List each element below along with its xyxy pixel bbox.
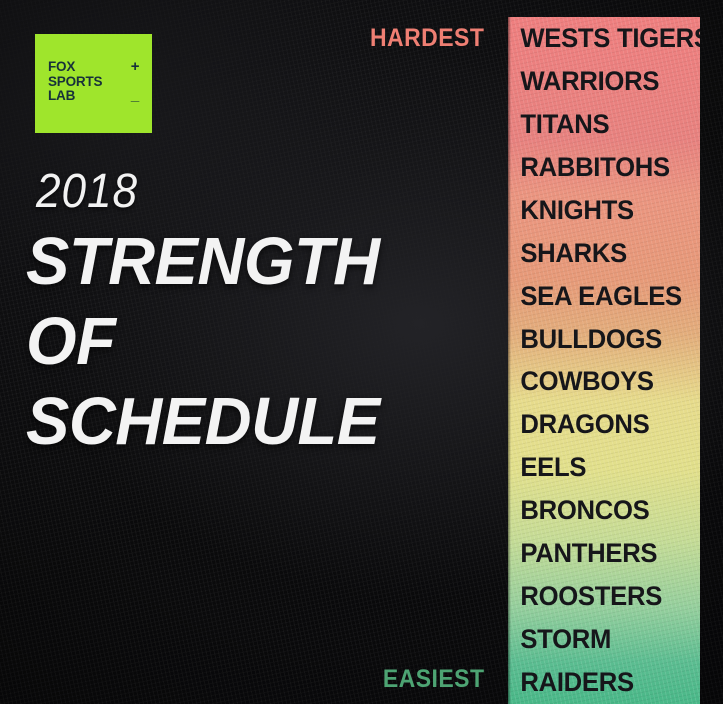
team-row: DRAGONS	[508, 403, 690, 446]
team-row: WARRIORS	[508, 60, 690, 103]
logo-line-lab: LAB	[48, 89, 75, 104]
team-row: PANTHERS	[508, 532, 690, 575]
team-row: WESTS TIGERS	[508, 17, 690, 60]
team-row: BRONCOS	[508, 489, 690, 532]
logo-text-block: FOX + SPORTS LAB _	[48, 60, 143, 104]
scale-label-hardest: HARDEST	[370, 24, 484, 53]
scale-label-easiest: EASIEST	[382, 665, 484, 694]
team-row: RAIDERS	[508, 661, 690, 704]
team-row: SHARKS	[508, 232, 690, 275]
title-line-schedule: SCHEDULE	[26, 382, 482, 462]
page-title: STRENGTH OF SCHEDULE	[26, 222, 482, 462]
team-row: KNIGHTS	[508, 189, 690, 232]
team-row: TITANS	[508, 103, 690, 146]
fox-sports-lab-logo: FOX + SPORTS LAB _	[35, 34, 152, 133]
logo-line-sports: SPORTS	[48, 75, 102, 90]
left-panel: FOX + SPORTS LAB _ 2018 STRENGTH OF SCHE…	[0, 0, 508, 704]
logo-row-2: SPORTS	[48, 75, 143, 90]
team-row: STORM	[508, 618, 690, 661]
team-row: BULLDOGS	[508, 318, 690, 361]
team-row: ROOSTERS	[508, 575, 690, 618]
logo-row-3: LAB _	[48, 89, 143, 104]
title-line-of: OF	[26, 302, 482, 382]
title-line-strength: STRENGTH	[26, 222, 482, 302]
logo-line-fox: FOX	[48, 60, 75, 75]
team-row: RABBITOHS	[508, 146, 690, 189]
plus-icon: +	[127, 60, 143, 73]
title-year: 2018	[36, 168, 138, 216]
minus-icon: _	[127, 89, 143, 102]
team-row: EELS	[508, 446, 690, 489]
team-row: COWBOYS	[508, 361, 690, 404]
logo-row-1: FOX +	[48, 60, 143, 75]
team-ranking-bar: WESTS TIGERSWARRIORSTITANSRABBITOHSKNIGH…	[508, 17, 700, 704]
team-list: WESTS TIGERSWARRIORSTITANSRABBITOHSKNIGH…	[508, 17, 700, 704]
team-row: SEA EAGLES	[508, 275, 690, 318]
